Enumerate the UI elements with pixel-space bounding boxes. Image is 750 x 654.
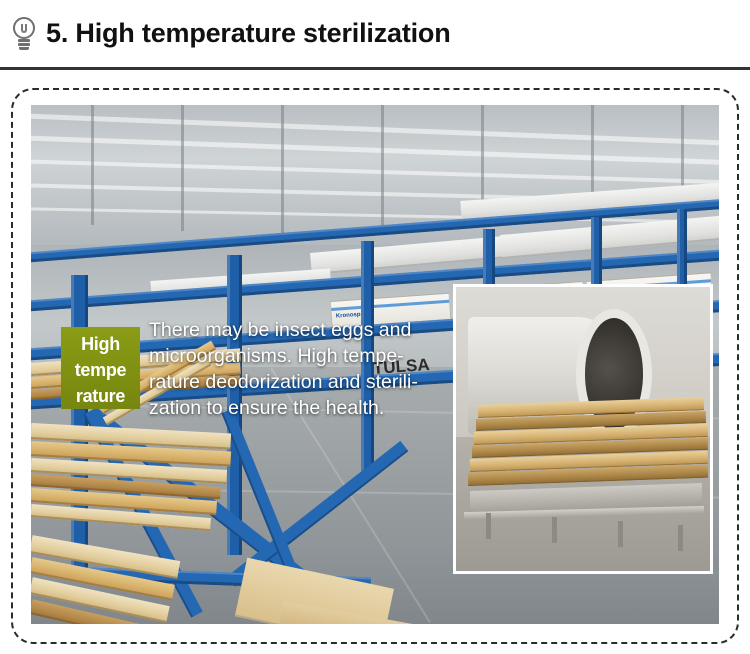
bulb-filament [21,24,27,33]
caption-line-1: There may be insect eggs and [149,317,479,343]
caption-line-3: rature deodorization and sterili- [149,369,479,395]
kiln-cart-leg [618,521,623,547]
sterilization-kiln-inset-photo [453,284,713,574]
badge-line-2: tempe [61,357,140,383]
photo-caption: There may be insect eggs and microorgani… [149,317,479,421]
badge-line-1: High [61,331,140,357]
warehouse-photo: Kronospan Kronospan Kronospan TULSA [31,105,719,624]
lightbulb-icon [10,15,38,53]
caption-line-2: microorganisms. High tempe- [149,343,479,369]
kiln-cart-leg [552,517,557,543]
bulb-base-ring-2 [18,43,30,46]
section-header: 5. High temperature sterilization [0,0,750,70]
bulb-base-ring-1 [18,39,30,42]
bulb-base-ring-3 [19,47,29,50]
caption-line-4: zation to ensure the health. [149,395,479,421]
high-temperature-badge: High tempe rature [61,327,140,409]
badge-line-3: rature [61,383,140,409]
kiln-cart-leg [678,525,683,551]
kiln-cart-leg [486,513,491,539]
page-title: 5. High temperature sterilization [46,18,451,49]
